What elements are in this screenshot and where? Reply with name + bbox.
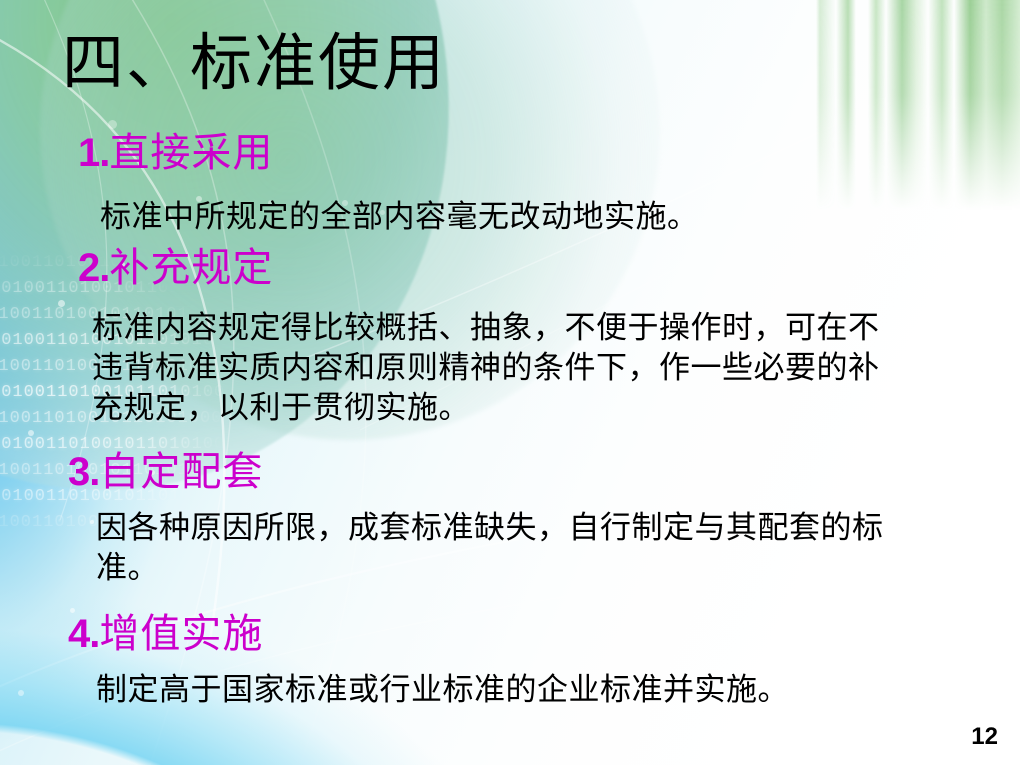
item-heading-4: 4.增值实施	[68, 612, 263, 656]
item-title-4: 增值实施	[99, 611, 263, 656]
item-heading-3: 3.自定配套	[68, 450, 263, 494]
item-number-1: 1.	[78, 131, 109, 175]
body-line: 因各种原因所限，成套标准缺失，自行制定与其配套的标	[96, 508, 884, 548]
page-number: 12	[971, 723, 998, 751]
item-body-4: 制定高于国家标准或行业标准的企业标准并实施。	[96, 670, 789, 710]
item-title-3: 自定配套	[99, 449, 263, 494]
item-number-2: 2.	[78, 246, 109, 290]
body-line: 充规定，以利于贯彻实施。	[92, 388, 880, 428]
item-body-1: 标准中所规定的全部内容毫无改动地实施。	[100, 197, 699, 237]
body-line: 标准中所规定的全部内容毫无改动地实施。	[100, 197, 699, 237]
slide-content: 四、标准使用 1.直接采用 标准中所规定的全部内容毫无改动地实施。 2.补充规定…	[0, 0, 1020, 765]
item-body-2: 标准内容规定得比较概括、抽象，不便于操作时，可在不 违背标准实质内容和原则精神的…	[92, 308, 880, 428]
item-body-3: 因各种原因所限，成套标准缺失，自行制定与其配套的标 准。	[96, 508, 884, 588]
item-heading-2: 2.补充规定	[78, 246, 273, 290]
item-heading-1: 1.直接采用	[78, 131, 273, 175]
body-line: 制定高于国家标准或行业标准的企业标准并实施。	[96, 670, 789, 710]
body-line: 违背标准实质内容和原则精神的条件下，作一些必要的补	[92, 348, 880, 388]
body-line: 准。	[96, 548, 884, 588]
item-number-3: 3.	[68, 450, 99, 494]
item-number-4: 4.	[68, 612, 99, 656]
presentation-slide: 1010011010010110101000101101101010010101…	[0, 0, 1020, 765]
slide-title: 四、标准使用	[62, 32, 446, 97]
body-line: 标准内容规定得比较概括、抽象，不便于操作时，可在不	[92, 308, 880, 348]
item-title-2: 补充规定	[109, 245, 273, 290]
item-title-1: 直接采用	[109, 130, 273, 175]
